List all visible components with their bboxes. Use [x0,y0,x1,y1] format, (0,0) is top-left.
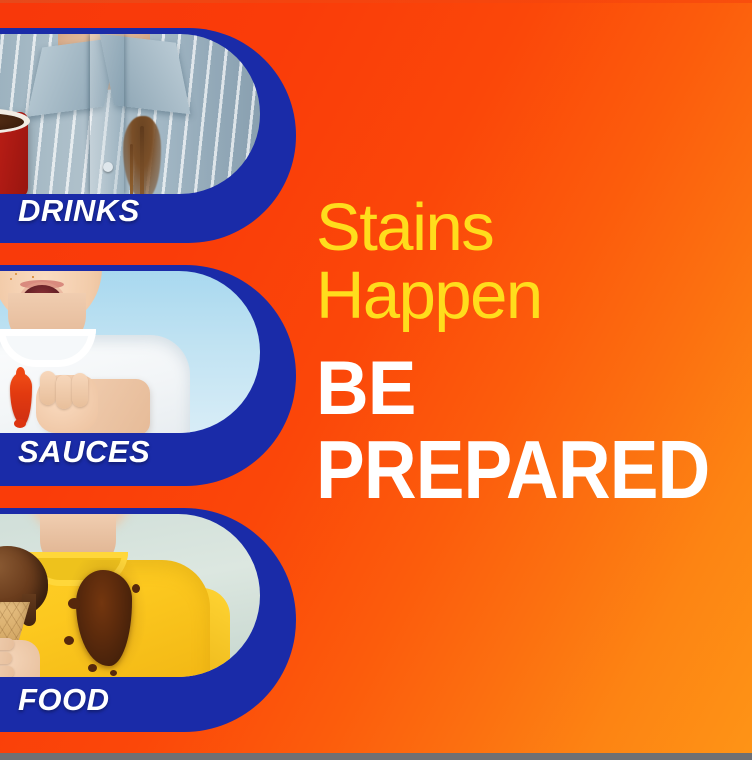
finger [0,666,14,677]
drinks-photo [0,34,260,194]
subheadline-line-2: PREPARED [316,431,694,509]
finger [56,375,72,409]
stain-card-label-drinks: DRINKS [18,193,140,229]
top-edge-line [0,0,752,3]
bottom-edge-bar [0,753,752,760]
headline-line-2: Happen [316,264,746,328]
finger [40,371,56,405]
stain-card-sauces[interactable]: SAUCES [0,265,296,486]
chocolate-splatter [68,598,81,609]
ketchup-droplet [14,419,26,428]
stain-card-drinks[interactable]: DRINKS [0,28,296,243]
shirt-button [103,162,113,172]
chocolate-splatter [110,670,117,676]
subheadline-line-1: BE [316,353,729,424]
subheadline: BE PREPARED [316,353,746,508]
coffee-drip-secondary [130,144,133,194]
sauces-photo [0,271,260,433]
chocolate-splatter [88,664,97,672]
stain-card-label-sauces: SAUCES [18,434,150,470]
finger [0,638,14,650]
headline: Stains Happen [316,196,746,327]
stain-card-food[interactable]: FOOD [0,508,296,732]
food-photo [0,514,260,677]
finger [0,652,12,664]
advertisement-banner: DRINKS SAUCES [0,0,752,760]
finger [72,373,88,407]
ketchup-droplet [16,367,25,380]
headline-line-1: Stains [316,190,493,265]
coffee-drip [140,126,144,194]
copy-block: Stains Happen BE PREPARED [316,196,746,509]
chocolate-splatter [64,636,74,645]
stain-card-label-food: FOOD [18,682,110,718]
chocolate-splatter [132,584,140,593]
